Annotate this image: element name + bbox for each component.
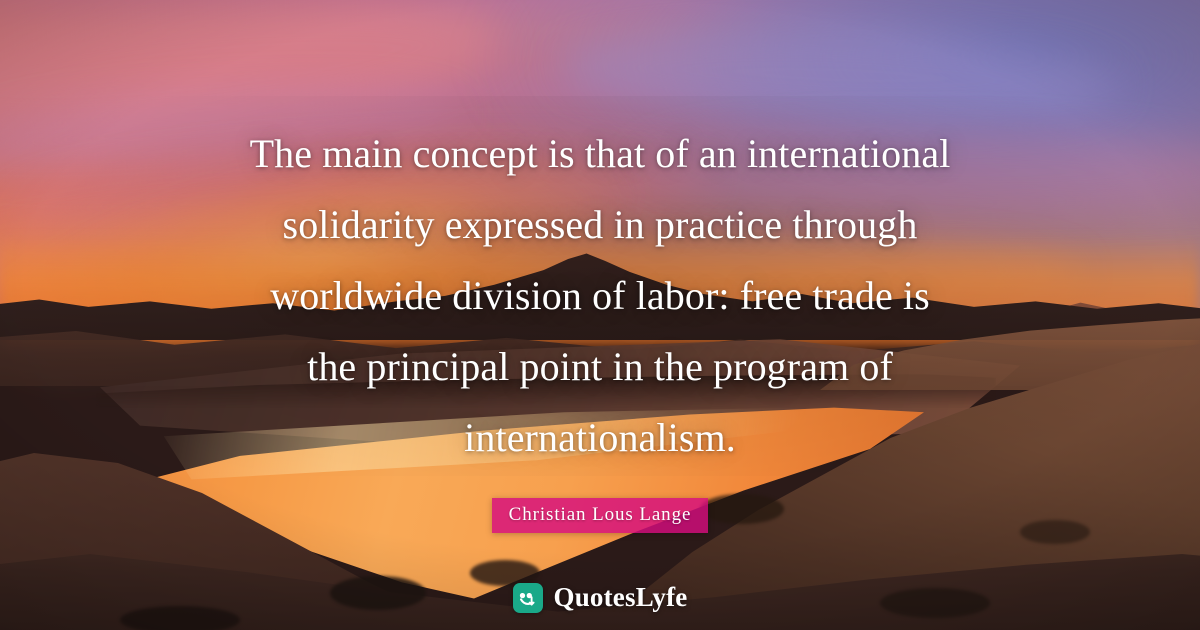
author-badge: Christian Lous Lange [492,498,709,533]
quote-line: internationalism. [140,402,1060,473]
quote-card: The main concept is that of an internati… [0,0,1200,630]
quote-line: The main concept is that of an internati… [140,118,1060,189]
brand-logo[interactable]: QuotesLyfe [513,582,688,613]
quote-line: worldwide division of labor: free trade … [140,260,1060,331]
brand-name: QuotesLyfe [554,582,688,613]
quote-line: solidarity expressed in practice through [140,189,1060,260]
card-content: The main concept is that of an internati… [0,0,1200,630]
quote-line: the principal point in the program of [140,331,1060,402]
quote-smiley-icon [513,583,543,613]
quote-text: The main concept is that of an internati… [140,118,1060,473]
